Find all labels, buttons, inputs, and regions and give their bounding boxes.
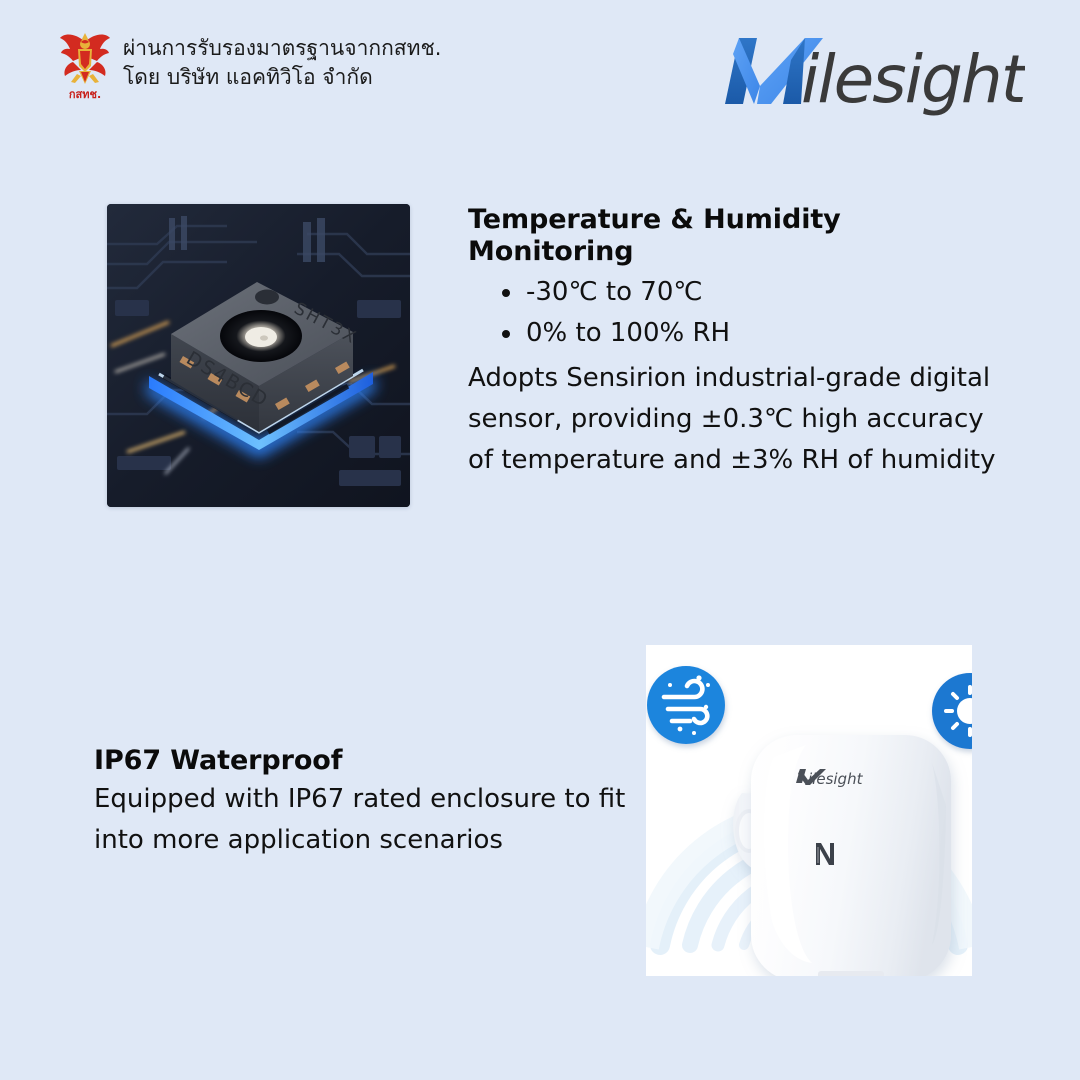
section-ip67-waterproof: IP67 Waterproof Equipped with IP67 rated… bbox=[0, 640, 1080, 1000]
feature-body-ip67: Equipped with IP67 rated enclosure to fi… bbox=[94, 779, 639, 861]
device-product-photo: ilesight bbox=[646, 645, 972, 976]
device-brand-text: ilesight bbox=[808, 770, 864, 788]
page-header: กสทช. ผ่านการรับรองมาตรฐานจากกสทช. โดย บ… bbox=[0, 0, 1080, 140]
ip67-text-block: IP67 Waterproof Equipped with IP67 rated… bbox=[94, 745, 639, 861]
nbtc-certification-text: ผ่านการรับรองมาตรฐานจากกสทช. โดย บริษัท … bbox=[123, 34, 441, 92]
temperature-humidity-text-block: Temperature & Humidity Monitoring -30℃ t… bbox=[468, 204, 1013, 481]
bullet-humidity-range: 0% to 100% RH bbox=[500, 313, 1013, 354]
wind-icon-badge bbox=[647, 666, 725, 744]
sensor-chip-photo: SHT3X DS4BCD bbox=[107, 204, 410, 507]
feature-title-temperature-humidity: Temperature & Humidity Monitoring bbox=[468, 204, 1013, 268]
temperature-humidity-bullet-list: -30℃ to 70℃ 0% to 100% RH bbox=[468, 272, 1013, 354]
feature-body-temperature-humidity: Adopts Sensirion industrial-grade digita… bbox=[468, 358, 1013, 481]
nbtc-certification-block: กสทช. ผ่านการรับรองมาตรฐานจากกสทช. โดย บ… bbox=[57, 28, 441, 100]
nbtc-emblem-caption: กสทช. bbox=[69, 88, 101, 100]
nbtc-text-line-1: ผ่านการรับรองมาตรฐานจากกสทช. bbox=[123, 34, 441, 63]
bullet-temperature-range: -30℃ to 70℃ bbox=[500, 272, 1013, 313]
milesight-logo: ilesight bbox=[705, 26, 1025, 118]
feature-title-ip67: IP67 Waterproof bbox=[94, 745, 639, 777]
milesight-wordmark-text: ilesight bbox=[801, 41, 1025, 118]
nbtc-garuda-emblem: กสทช. bbox=[57, 28, 113, 100]
nbtc-text-line-2: โดย บริษัท แอคทิวิโอ จำกัด bbox=[123, 63, 441, 92]
